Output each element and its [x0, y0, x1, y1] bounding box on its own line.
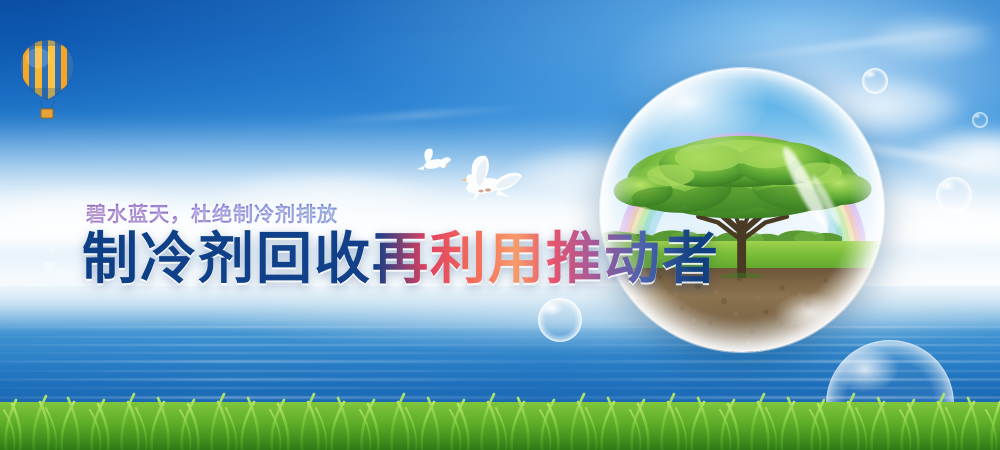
eco-sphere: [600, 68, 884, 352]
bubble-sea-left: [538, 298, 582, 342]
doves-icon: [412, 138, 532, 210]
bubble-sky-far: [972, 112, 988, 128]
bubble-sky-right: [936, 177, 972, 213]
dove-small: [417, 149, 451, 171]
banner-subtitle: 碧水蓝天，杜绝制冷剂排放: [86, 198, 338, 227]
hot-air-balloon-icon: [18, 38, 76, 124]
eco-promo-banner: 碧水蓝天，杜绝制冷剂排放 制冷剂回收再利用推动者 制冷剂回收再利用推动者: [0, 0, 1000, 450]
grass-foreground: [0, 358, 1000, 450]
banner-title: 制冷剂回收再利用推动者: [82, 228, 720, 291]
